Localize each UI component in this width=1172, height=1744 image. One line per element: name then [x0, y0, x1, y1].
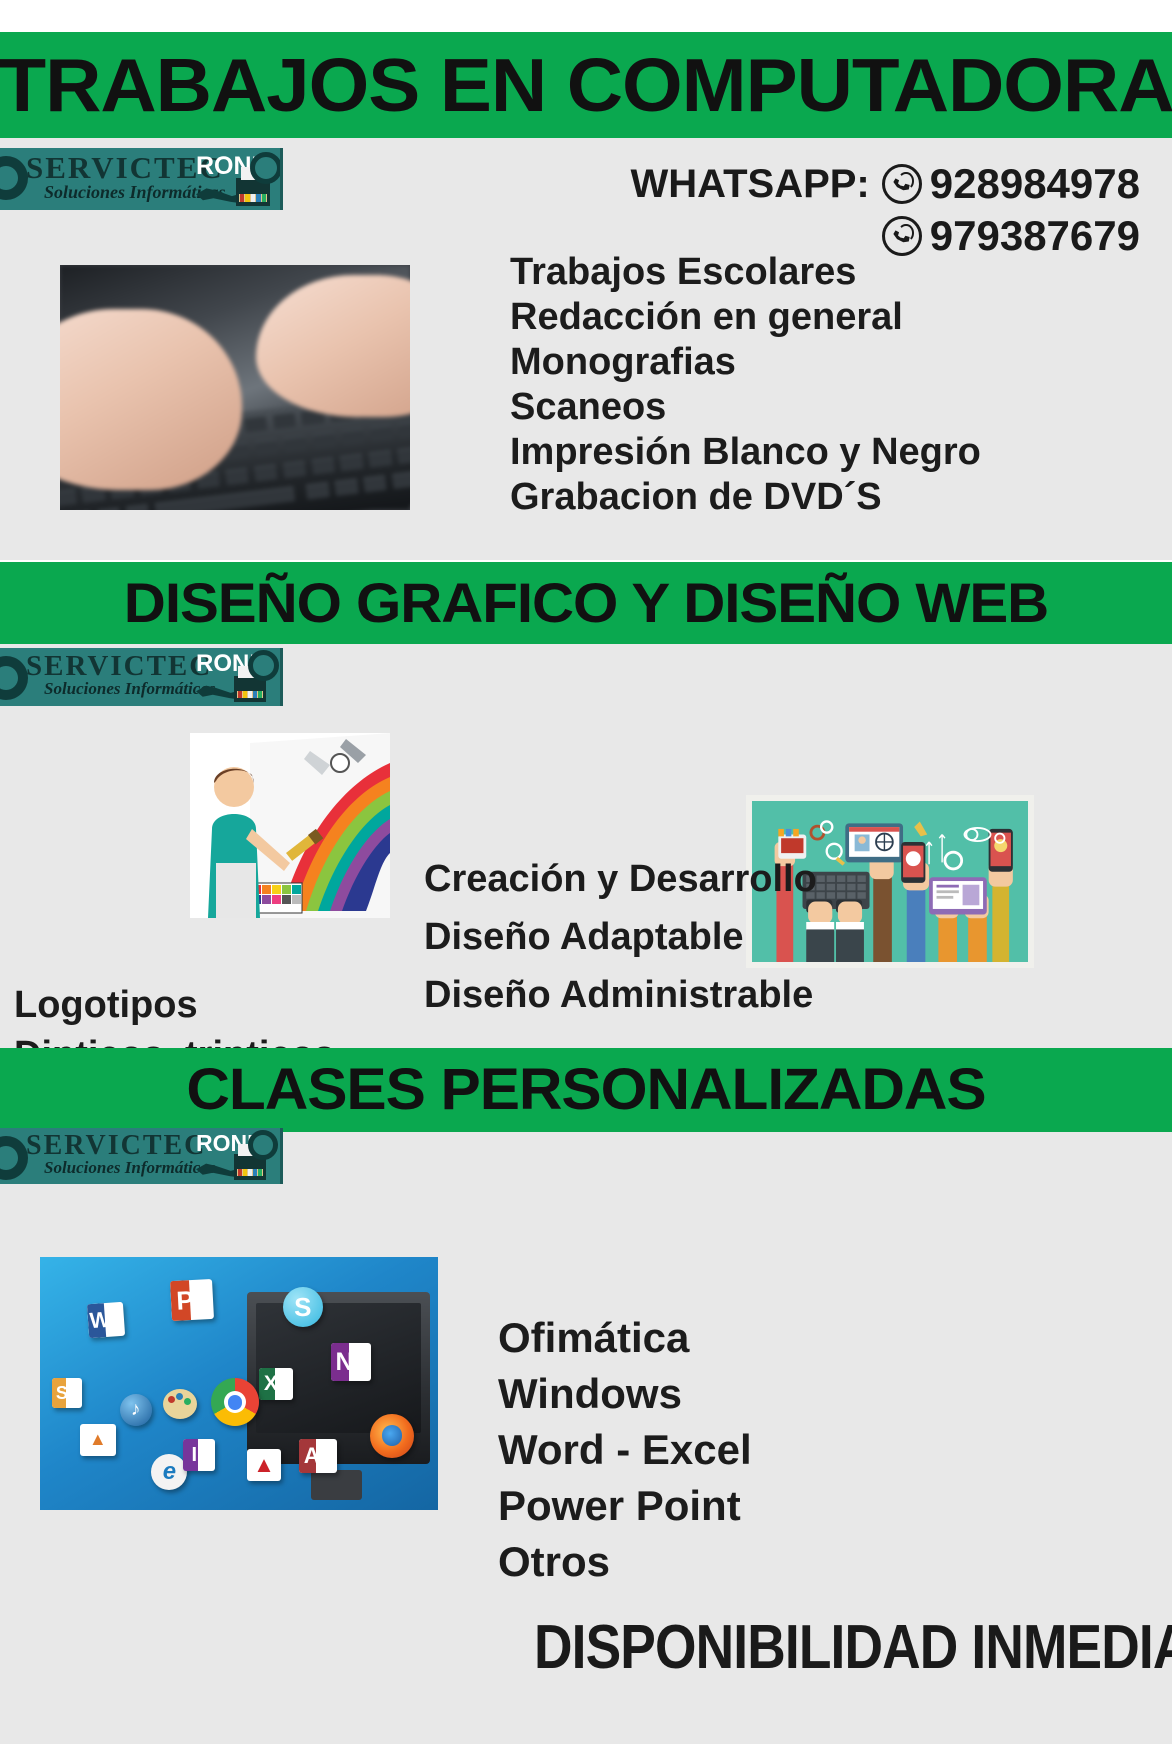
- logo-servictec-roni-3: SERVICTEC RONI Soluciones Informáticas: [0, 1128, 283, 1184]
- logo-servictec-roni-2: SERVICTEC RONI Soluciones Informáticas: [0, 648, 283, 706]
- logo-tagline: Soluciones Informáticas: [44, 679, 215, 699]
- service-item: Monografias: [510, 340, 981, 385]
- paint-icon: [163, 1389, 197, 1419]
- phone-1[interactable]: 928984978: [930, 160, 1140, 208]
- excel-icon: X: [259, 1368, 293, 1400]
- acrobat-icon: ▲: [247, 1449, 281, 1481]
- onenote-icon: N: [331, 1343, 371, 1381]
- designer-svg: [190, 733, 390, 918]
- infopath-icon: I: [183, 1439, 215, 1471]
- logo-servictec-roni-1: SERVICTEC RONI Soluciones Informáticas: [0, 148, 283, 210]
- cog-icon: [0, 656, 28, 700]
- word-icon: W: [87, 1301, 125, 1337]
- image-graphic-designer: [190, 733, 390, 918]
- ring-icon: [248, 650, 279, 681]
- design-item: Creación y Desarrollo: [424, 850, 817, 908]
- logo-tagline: Soluciones Informáticas: [44, 1158, 215, 1178]
- image-hands-typing: [60, 265, 410, 510]
- image-software-icons: W P S N X e ▲ A: [40, 1257, 438, 1510]
- service-item: Scaneos: [510, 385, 981, 430]
- cog-icon: [0, 1136, 28, 1180]
- class-item: Ofimática: [498, 1310, 752, 1366]
- class-item: Power Point: [498, 1478, 752, 1534]
- class-item: Word - Excel: [498, 1422, 752, 1478]
- ring-icon: [250, 152, 282, 184]
- design-item: Logotipos: [14, 980, 459, 1030]
- logo-tagline: Soluciones Informáticas: [44, 182, 226, 203]
- firefox-icon: [370, 1414, 414, 1458]
- design-item: Diseño Administrable: [424, 966, 817, 1024]
- services-list-trabajos: Trabajos Escolares Redacción en general …: [510, 250, 981, 520]
- flyer-page: TRABAJOS EN COMPUTADORA SERVICTEC RONI S…: [0, 0, 1172, 1744]
- skype-icon: S: [283, 1287, 323, 1327]
- banner-trabajos: TRABAJOS EN COMPUTADORA: [0, 32, 1172, 138]
- classes-list: Ofimática Windows Word - Excel Power Poi…: [498, 1310, 752, 1590]
- cog-icon: [0, 156, 28, 200]
- monitor-stand: [311, 1470, 363, 1500]
- powerpoint-icon: P: [170, 1279, 214, 1321]
- logo-brand: SERVICTEC: [26, 150, 224, 186]
- class-item: Windows: [498, 1366, 752, 1422]
- chart-thumbnail-icon: ▲: [80, 1424, 116, 1456]
- service-item: Grabacion de DVD´S: [510, 475, 981, 520]
- design-list-right: Creación y Desarrollo Diseño Adaptable D…: [424, 850, 817, 1024]
- whatsapp-line-1: WHATSAPP: 928984978: [500, 160, 1140, 208]
- sway-icon: S: [52, 1378, 82, 1408]
- banner-clases: CLASES PERSONALIZADAS: [0, 1048, 1172, 1132]
- service-item: Redacción en general: [510, 295, 981, 340]
- access-icon: A: [299, 1439, 337, 1473]
- whatsapp-icon: [882, 164, 922, 204]
- service-item: Trabajos Escolares: [510, 250, 981, 295]
- banner-diseno-text: DISEÑO GRAFICO Y DISEÑO WEB: [0, 575, 1172, 631]
- whatsapp-block: WHATSAPP: 928984978 979387679: [500, 160, 1140, 260]
- whatsapp-label: WHATSAPP:: [631, 162, 870, 207]
- itunes-icon: ♪: [120, 1394, 152, 1426]
- design-item: Diseño Adaptable: [424, 908, 817, 966]
- banner-clases-text: CLASES PERSONALIZADAS: [0, 1061, 1172, 1119]
- banner-trabajos-text: TRABAJOS EN COMPUTADORA: [0, 48, 1172, 123]
- banner-diseno: DISEÑO GRAFICO Y DISEÑO WEB: [0, 562, 1172, 644]
- service-item: Impresión Blanco y Negro: [510, 430, 981, 475]
- class-item: Otros: [498, 1534, 752, 1590]
- slogan-disponibilidad: DISPONIBILIDAD INMEDIATA: [534, 1612, 1172, 1683]
- ring-icon: [248, 1130, 278, 1160]
